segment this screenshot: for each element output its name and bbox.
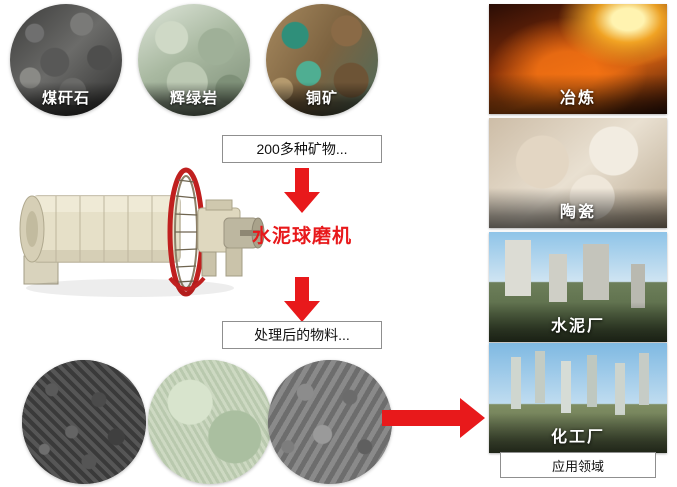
application-card-chemical-plant: 化工厂 — [489, 343, 667, 453]
application-label: 陶瓷 — [489, 198, 667, 222]
input-materials-label: 200多种矿物... — [222, 135, 382, 163]
application-card-cement-plant: 水泥厂 — [489, 232, 667, 342]
product-circle-grey-gravel — [268, 360, 392, 484]
diagram-canvas: 煤矸石 辉绿岩 铜矿 200多种矿物... — [0, 0, 677, 487]
material-caption: 煤矸石 — [10, 87, 122, 108]
ball-mill-illustration — [10, 160, 270, 310]
product-circle-black-gravel — [22, 360, 146, 484]
application-card-smelting: 冶炼 — [489, 4, 667, 114]
material-caption: 铜矿 — [266, 87, 378, 108]
application-card-ceramics: 陶瓷 — [489, 118, 667, 228]
product-circle-green-powder — [148, 360, 272, 484]
material-circle-copper-ore: 铜矿 — [266, 4, 378, 116]
material-circle-diabase: 辉绿岩 — [138, 4, 250, 116]
application-label: 冶炼 — [489, 84, 667, 108]
arrow-right-icon — [382, 398, 486, 443]
green-powder-photo — [148, 360, 272, 484]
material-caption: 辉绿岩 — [138, 87, 250, 108]
material-circle-coal-gangue: 煤矸石 — [10, 4, 122, 116]
application-area-label: 应用领域 — [500, 452, 656, 478]
grey-gravel-photo — [268, 360, 392, 484]
application-label: 化工厂 — [489, 423, 667, 447]
processed-material-label: 处理后的物料... — [222, 321, 382, 349]
black-gravel-photo — [22, 360, 146, 484]
application-label: 水泥厂 — [489, 312, 667, 336]
machine-name-label: 水泥球磨机 — [252, 221, 352, 248]
arrow-down-icon — [283, 168, 321, 219]
